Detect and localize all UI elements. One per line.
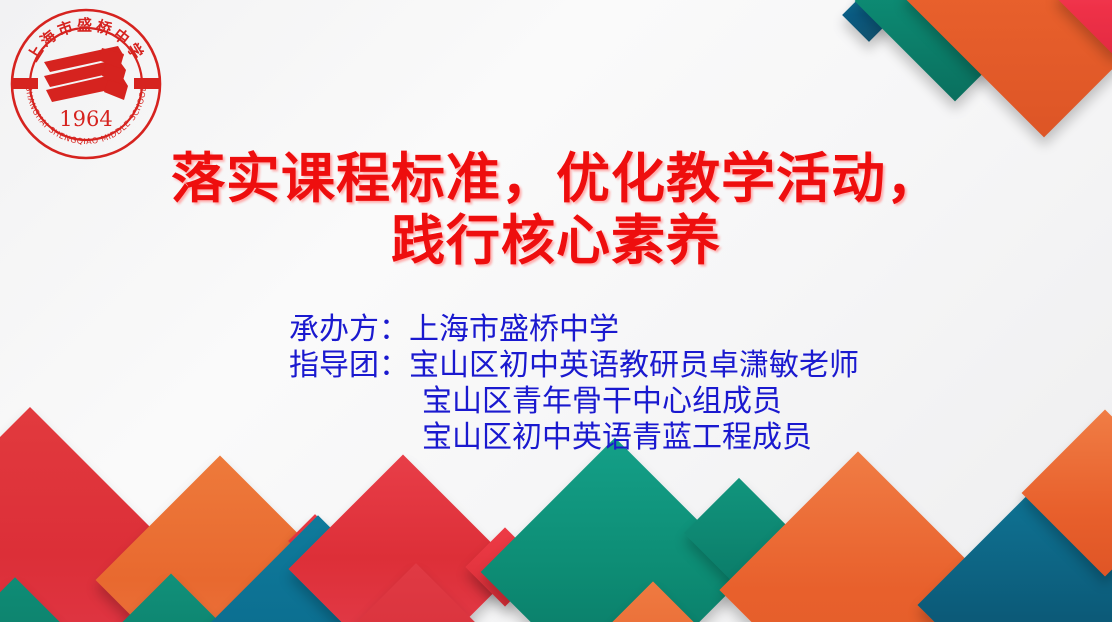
blue-diamond-bottom-center <box>165 515 470 622</box>
small-blue-diamond-top <box>842 0 896 42</box>
presentation-slide: 1964 上海市盛桥中学 SHANGHAI SHENGQIAO MIDDLE S… <box>0 0 1112 622</box>
orange-diamond-top-right <box>903 0 1112 137</box>
pink-diamond-top-corner <box>1055 0 1112 55</box>
small-teal-diamond-bottom-right <box>684 478 794 588</box>
orange-diamond-bottom-left <box>96 456 345 622</box>
teal-diamond-bottom-right-large <box>481 438 750 622</box>
subtitle-line-host: 承办方：上海市盛桥中学 <box>289 312 859 348</box>
red-diamond-bottom-center <box>288 454 517 622</box>
small-red-diamond-bottom-right <box>465 527 544 606</box>
small-red-diamond-bottom-center <box>288 514 342 568</box>
orange-diamond-right-edge <box>1022 410 1112 577</box>
subtitle-line-qinglan: 宝山区初中英语青蓝工程成员 <box>289 420 859 456</box>
subtitle-line-core-group: 宝山区青年骨干中心组成员 <box>289 384 859 420</box>
decorative-diamonds <box>0 0 1112 622</box>
blue-diamond-bottom-right <box>917 473 1112 622</box>
title-line-2: 践行核心素养 <box>0 210 1112 272</box>
orange-diamond-bottom-right <box>719 451 996 622</box>
school-logo: 1964 上海市盛桥中学 SHANGHAI SHENGQIAO MIDDLE S… <box>6 4 166 164</box>
subtitle-line-advisor: 指导团：宝山区初中英语教研员卓潇敏老师 <box>289 348 859 384</box>
slide-subtitle: 承办方：上海市盛桥中学 指导团：宝山区初中英语教研员卓潇敏老师 宝山区青年骨干中… <box>289 312 859 456</box>
red-diamond-bottom-right-lower <box>331 563 501 622</box>
orange-diamond-bottom-far-right <box>589 581 716 622</box>
red-diamond-bottom-left <box>0 407 194 622</box>
teal-diamond-bottom-far-left <box>0 577 93 622</box>
slide-title: 落实课程标准，优化教学活动， 践行核心素养 <box>0 148 1112 272</box>
title-line-1: 落实课程标准，优化教学活动， <box>0 148 1112 210</box>
teal-diamond-bottom-left <box>80 573 261 622</box>
teal-diamond-top-right <box>855 0 1056 101</box>
logo-year: 1964 <box>59 107 112 131</box>
